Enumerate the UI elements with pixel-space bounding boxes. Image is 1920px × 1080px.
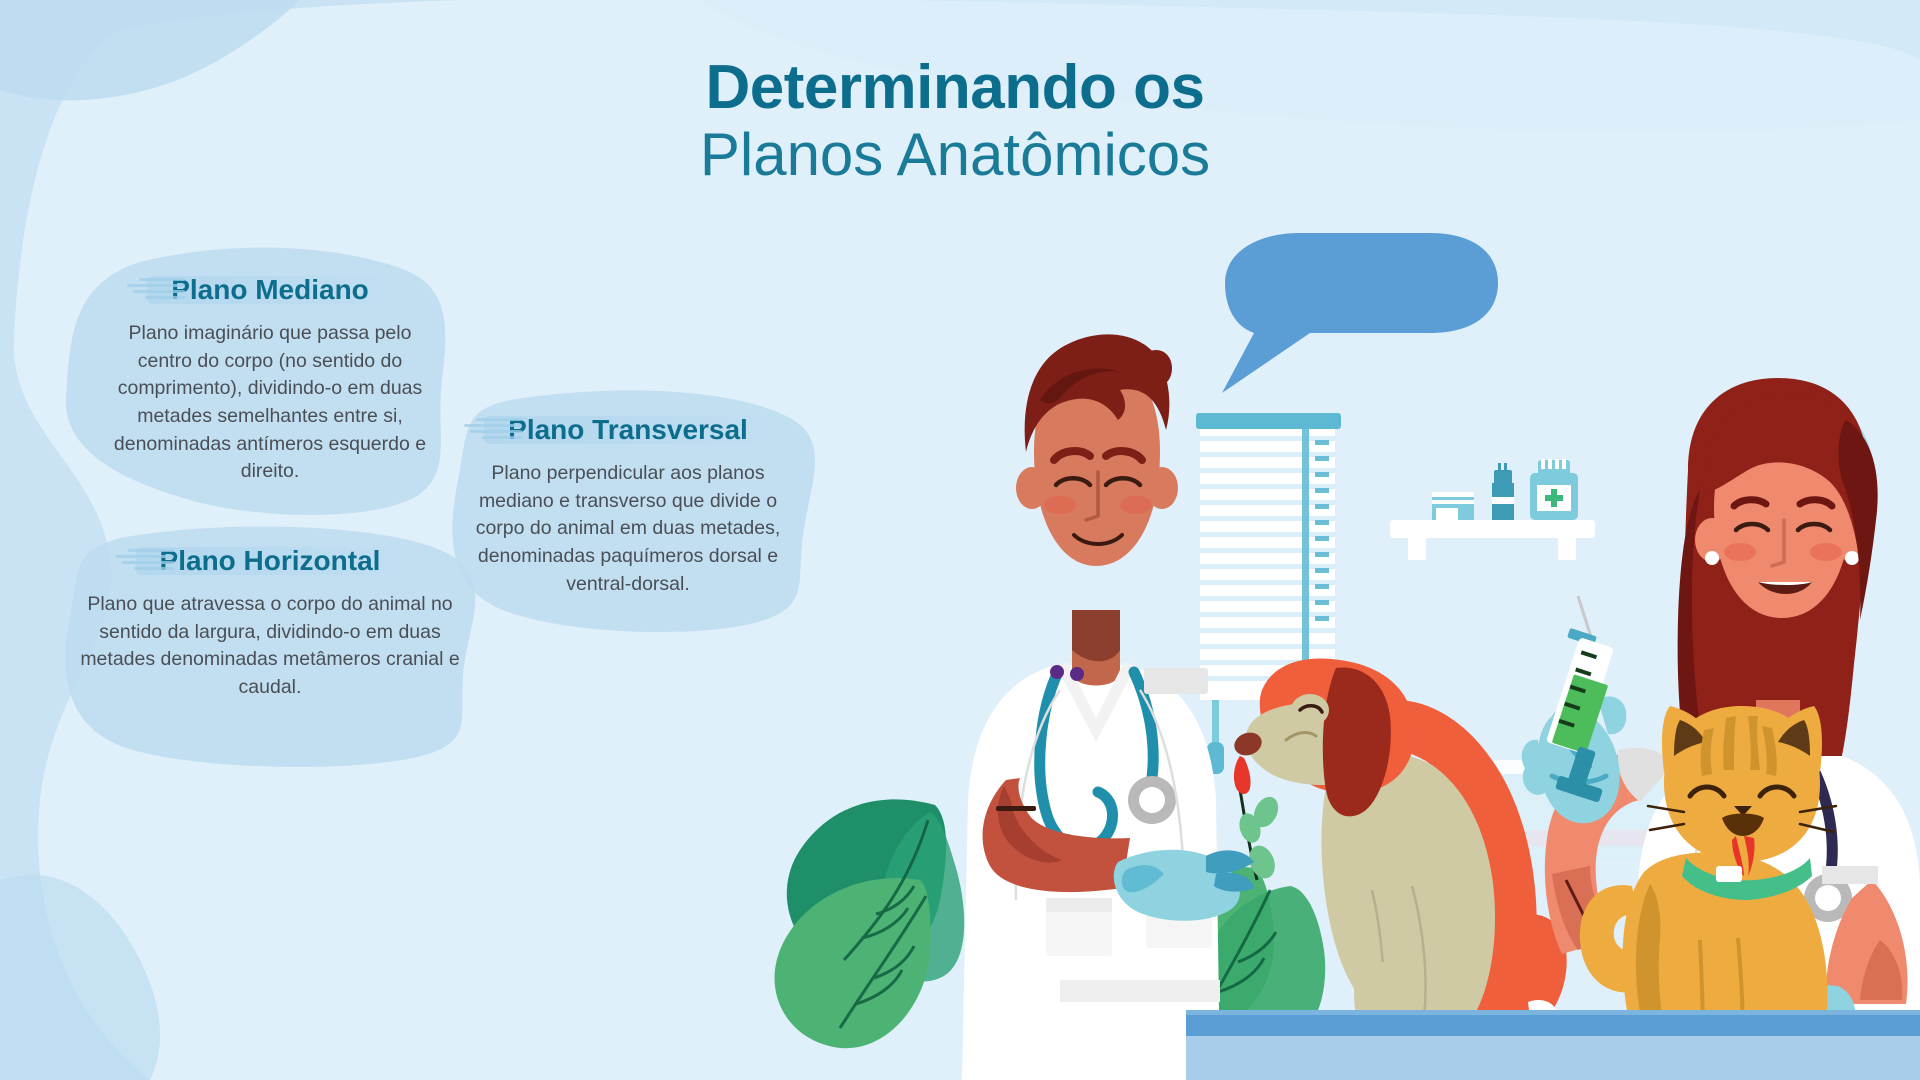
card-plano-transversal: Plano Transversal Plano perpendicular ao… xyxy=(455,412,801,598)
page-title: Determinando os Planos Anatômicos xyxy=(430,55,1480,191)
card-heading-text: Plano Transversal xyxy=(508,414,748,445)
card-heading-plano-horizontal: Plano Horizontal xyxy=(146,543,395,579)
title-line-2: Planos Anatômicos xyxy=(430,120,1480,191)
speech-bubble-icon xyxy=(1222,233,1498,393)
card-plano-horizontal: Plano Horizontal Plano que atravessa o c… xyxy=(60,543,480,702)
medicine-shelf xyxy=(1390,459,1595,560)
card-heading-plano-mediano: Plano Mediano xyxy=(157,272,383,308)
slide-canvas: Determinando os Planos Anatômicos Plano … xyxy=(0,0,1920,1080)
potted-plants-left xyxy=(775,799,965,1048)
card-body-plano-mediano: Plano imaginário que passa pelo centro d… xyxy=(100,320,440,486)
card-body-plano-transversal: Plano perpendicular aos planos mediano e… xyxy=(455,460,801,598)
card-heading-text: Plano Mediano xyxy=(171,274,369,305)
title-line-1: Determinando os xyxy=(430,55,1480,120)
card-plano-mediano: Plano Mediano Plano imaginário que passa… xyxy=(100,272,440,486)
card-body-plano-horizontal: Plano que atravessa o corpo do animal no… xyxy=(60,591,480,702)
card-heading-plano-transversal: Plano Transversal xyxy=(494,412,762,448)
card-heading-text: Plano Horizontal xyxy=(160,545,381,576)
exam-table xyxy=(1186,1010,1920,1080)
